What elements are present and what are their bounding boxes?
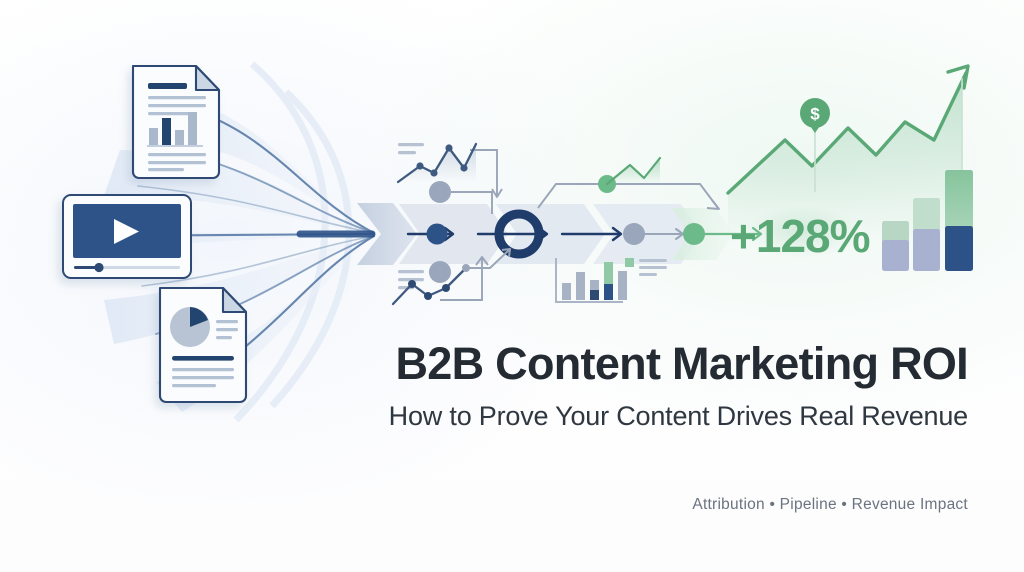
progress-handle [94,263,103,272]
hero-graphic: $ +128% B2B Content Marketing ROI How to… [0,0,1024,572]
illustration-canvas: $ [0,0,1024,572]
legend-lines [639,259,667,276]
doc-title-bar [148,83,187,89]
mini-chart-node-lower [429,261,451,283]
pipeline-node-entry [427,224,448,245]
mini-line-chart-top [398,143,492,214]
page-subtitle: How to Prove Your Content Drives Real Re… [268,401,968,431]
mini-chart-node [429,181,451,203]
branch-sparkline [607,158,660,184]
report-document-card[interactable] [133,66,219,178]
legend-swatch [625,258,634,267]
dollar-symbol: $ [810,105,820,124]
pipeline-node-mid [623,223,645,245]
page-title: B2B Content Marketing ROI [268,340,968,388]
mini-bar-chart [556,258,667,302]
pie-document-card[interactable] [160,288,246,402]
trend-arrowhead [948,66,968,88]
pie-doc-heading [172,356,234,361]
doc-pie-chart [170,307,210,347]
text-block: B2B Content Marketing ROI How to Prove Y… [268,340,968,431]
pipeline-node-exit [683,223,705,245]
dollar-pin-badge[interactable]: $ [800,98,830,133]
kicker-tagline: Attribution • Pipeline • Revenue Impact [692,496,968,514]
video-content-card[interactable] [63,195,191,278]
